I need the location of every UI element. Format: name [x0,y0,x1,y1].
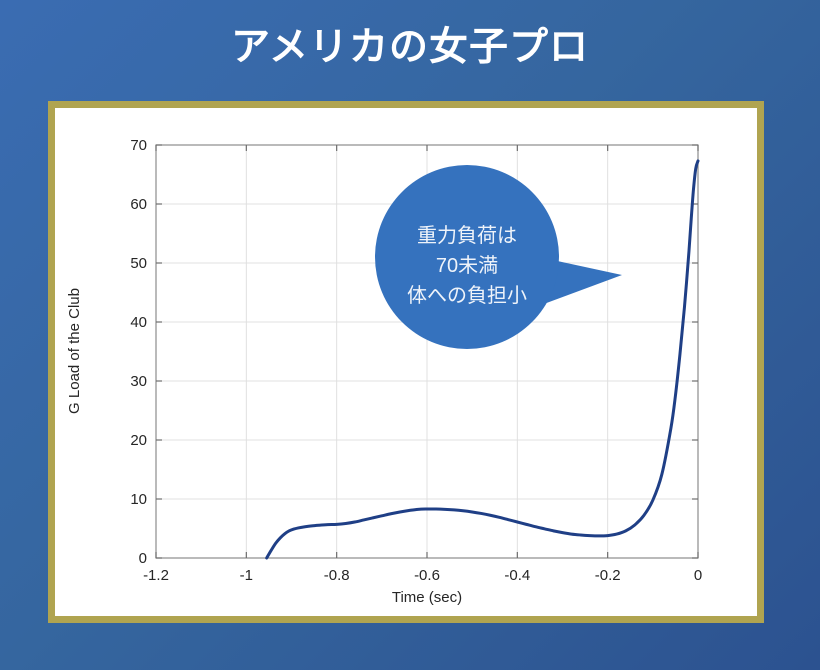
x-tick-label: 0 [694,567,702,584]
y-tick-label: 0 [139,550,147,567]
y-axis-title: G Load of the Club [66,288,83,414]
x-tick-label: -1.2 [143,567,169,584]
y-tick-label: 20 [130,432,147,449]
y-tick-label: 40 [130,314,147,331]
y-tick-label: 70 [130,137,147,154]
y-tick-label: 50 [130,255,147,272]
y-tick-label: 10 [130,491,147,508]
slide-root: アメリカの女子プロ -1.2-1-0.8-0.6-0.4-0.20 010203… [0,0,820,670]
x-axis-title: Time (sec) [392,589,462,606]
x-tick-label: -0.4 [504,567,530,584]
y-tick-label: 60 [130,196,147,213]
x-tick-label: -0.6 [414,567,440,584]
y-tick-label: 30 [130,373,147,390]
x-tick-label: -0.8 [324,567,350,584]
callout-line-3: 体への負担小 [407,284,527,307]
page-title: アメリカの女子プロ [0,24,820,72]
g-load-line-chart: -1.2-1-0.8-0.6-0.4-0.20 010203040506070 … [55,108,757,616]
callout-line-2: 70未満 [436,254,498,277]
plot-background [55,108,757,616]
x-tick-label: -0.2 [595,567,621,584]
chart-card: -1.2-1-0.8-0.6-0.4-0.20 010203040506070 … [48,101,764,623]
x-tick-label: -1 [240,567,253,584]
callout-line-1: 重力負荷は [417,224,517,247]
